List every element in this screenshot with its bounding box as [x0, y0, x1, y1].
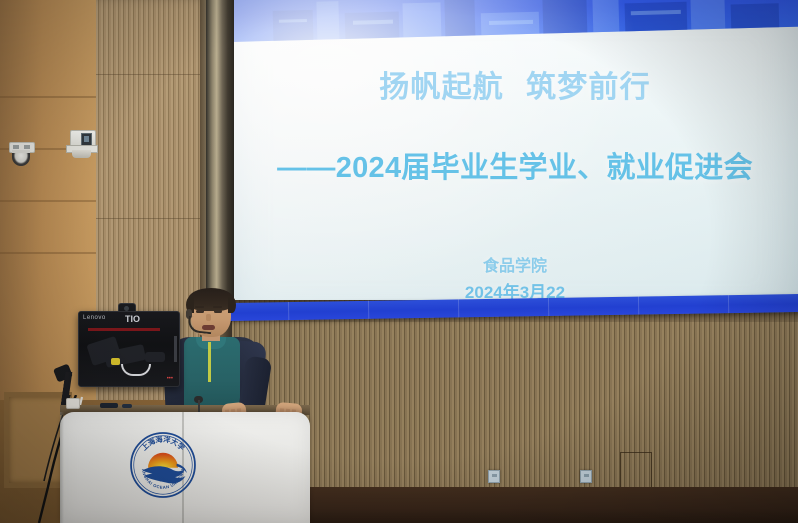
photo-scene: 扬帆起航筑梦前行 ——2024届毕业生学业、就业促进会 食品学院 2024年3月… [0, 0, 798, 523]
shanghai-ocean-university-logo: 上海海洋大学 SHANGHAI OCEAN UNIVERSITY 1912 [129, 431, 197, 499]
wall-outlet [580, 470, 592, 483]
slide-title-part2: 筑梦前行 [526, 71, 651, 104]
svg-text:1912: 1912 [160, 478, 167, 482]
box-camera-icon [66, 130, 96, 158]
slatted-wall-right [232, 300, 798, 490]
dome-ptz-camera-icon [8, 142, 34, 160]
baseboard [232, 487, 798, 523]
desk-item-dark-small [122, 404, 132, 408]
slide-subtitle: ——2024届毕业生学业、就业促进会 [232, 144, 798, 186]
wall-access-panel [620, 452, 652, 490]
slide-title-part1: 扬帆起航 [379, 71, 504, 104]
desk-item-dark [100, 403, 118, 408]
monitor-brand-label: Lenovo [83, 315, 106, 321]
slide-title: 扬帆起航筑梦前行 [232, 62, 798, 106]
screen-left-trim [206, 0, 234, 322]
desk-item-white [66, 398, 80, 409]
projection-screen: 扬帆起航筑梦前行 ——2024届毕业生学业、就业促进会 食品学院 2024年3月… [232, 0, 798, 322]
slide-top-banner [232, 0, 798, 42]
wall-outlet [488, 470, 500, 483]
lenovo-monitor: Lenovo TIO ••• [78, 311, 180, 387]
slide-organization: 食品学院 [232, 252, 798, 276]
monitor-badge: TIO [125, 314, 140, 324]
